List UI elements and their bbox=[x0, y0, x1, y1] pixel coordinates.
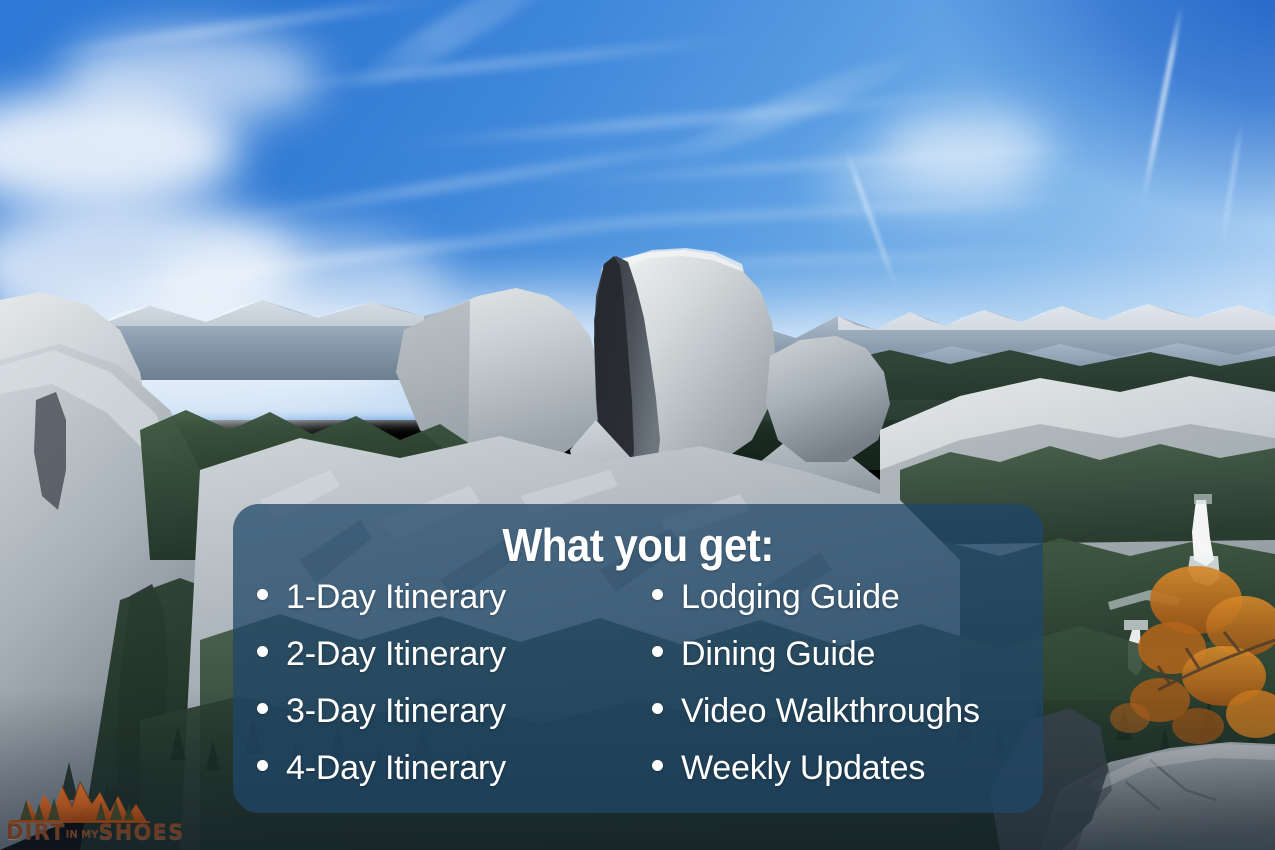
list-item: 4-Day Itinerary bbox=[257, 749, 638, 806]
logo-word-dirt: DIRT bbox=[6, 820, 66, 844]
bullet-dot-icon bbox=[257, 760, 268, 771]
bullet-dot-icon bbox=[652, 760, 663, 771]
list-item-label: 1-Day Itinerary bbox=[286, 578, 506, 617]
list-item-label: 3-Day Itinerary bbox=[286, 692, 506, 731]
logo-word-shoes: SHOES bbox=[98, 820, 184, 844]
list-item: 1-Day Itinerary bbox=[257, 578, 638, 635]
list-item: 3-Day Itinerary bbox=[257, 692, 638, 749]
bullet-dot-icon bbox=[652, 646, 663, 657]
list-item: Weekly Updates bbox=[652, 749, 1043, 806]
logo-word-inmy: IN MY bbox=[66, 829, 99, 840]
bullet-dot-icon bbox=[257, 589, 268, 600]
bullet-dot-icon bbox=[652, 589, 663, 600]
list-item: Video Walkthroughs bbox=[652, 692, 1043, 749]
poster-canvas: What you get: 1-Day Itinerary 2-Day Itin… bbox=[0, 0, 1275, 850]
list-item-label: Weekly Updates bbox=[681, 749, 925, 788]
panel-columns: 1-Day Itinerary 2-Day Itinerary 3-Day It… bbox=[233, 576, 1043, 806]
list-item-label: Dining Guide bbox=[681, 635, 875, 674]
logo-wordmark: DIRTIN MYSHOES bbox=[6, 820, 154, 844]
list-item: Dining Guide bbox=[652, 635, 1043, 692]
list-item-label: Video Walkthroughs bbox=[681, 692, 980, 731]
list-item-label: Lodging Guide bbox=[681, 578, 900, 617]
bullet-dot-icon bbox=[257, 703, 268, 714]
list-item-label: 4-Day Itinerary bbox=[286, 749, 506, 788]
column-extras: Lodging Guide Dining Guide Video Walkthr… bbox=[638, 576, 1043, 806]
bullet-dot-icon bbox=[257, 646, 268, 657]
column-itineraries: 1-Day Itinerary 2-Day Itinerary 3-Day It… bbox=[233, 576, 638, 806]
list-item-label: 2-Day Itinerary bbox=[286, 635, 506, 674]
list-item: 2-Day Itinerary bbox=[257, 635, 638, 692]
what-you-get-panel: What you get: 1-Day Itinerary 2-Day Itin… bbox=[233, 504, 1043, 813]
panel-heading: What you get: bbox=[265, 518, 1010, 572]
bullet-dot-icon bbox=[652, 703, 663, 714]
dirt-in-my-shoes-logo: DIRTIN MYSHOES bbox=[4, 776, 154, 850]
list-item: Lodging Guide bbox=[652, 578, 1043, 635]
